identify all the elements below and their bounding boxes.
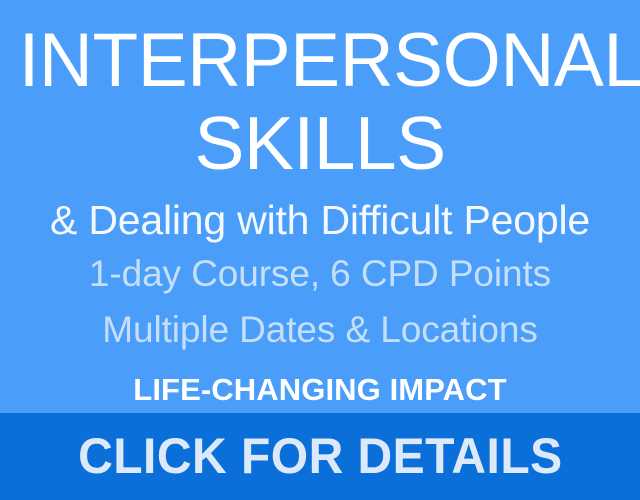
headline-line-1: INTERPERSONAL (19, 26, 622, 96)
course-detail-dates-locations: Multiple Dates & Locations (14, 310, 626, 350)
advertisement-banner[interactable]: INTERPERSONAL SKILLS & Dealing with Diff… (0, 0, 640, 500)
cta-button[interactable]: CLICK FOR DETAILS (0, 413, 640, 500)
headline-line-2: SKILLS (14, 108, 626, 178)
cta-button-label: CLICK FOR DETAILS (78, 430, 563, 482)
course-detail-duration-cpd: 1-day Course, 6 CPD Points (14, 254, 626, 294)
banner-content: INTERPERSONAL SKILLS & Dealing with Diff… (0, 0, 640, 413)
impact-statement: LIFE-CHANGING IMPACT (14, 373, 626, 407)
subheadline: & Dealing with Difficult People (14, 198, 626, 242)
